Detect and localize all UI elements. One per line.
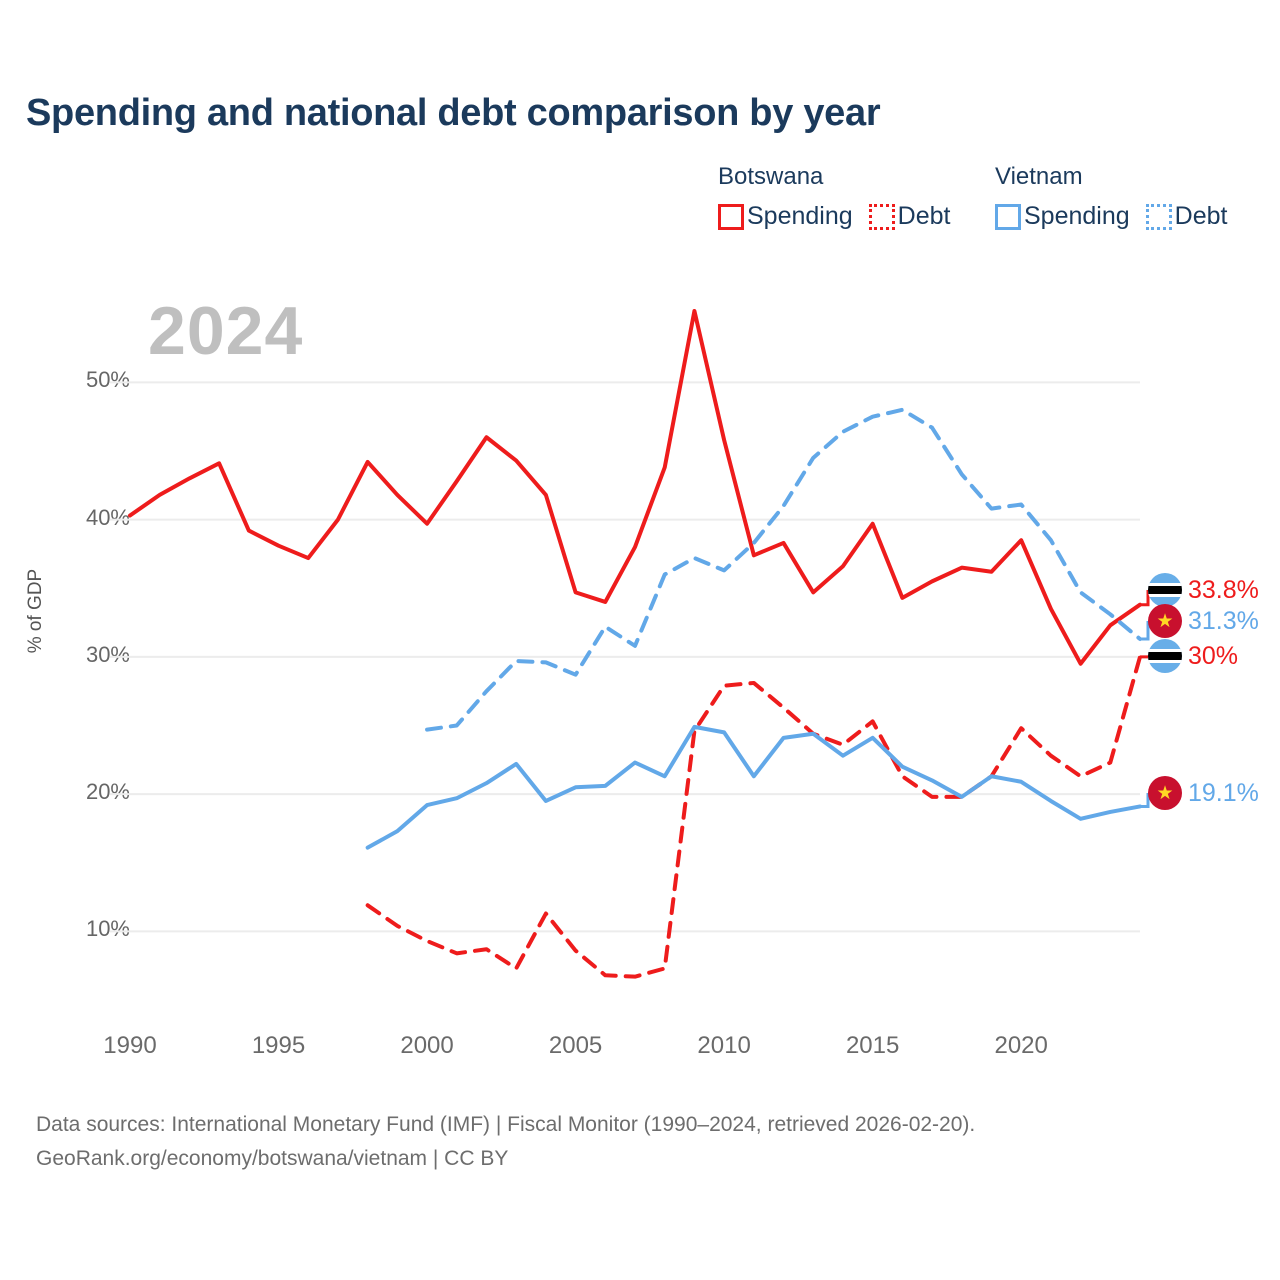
footer: Data sources: International Monetary Fun… — [36, 1108, 975, 1176]
x-tick-label: 2015 — [846, 1032, 899, 1060]
vietnam-flag-icon: ★ — [1148, 604, 1182, 638]
end-label-blue-3: ★19.1% — [1148, 776, 1259, 810]
chart-svg — [0, 0, 1280, 1100]
chart-plot-area: 2024 % of GDP 10%20%30%40%50% 1990199520… — [0, 0, 1280, 1100]
label-leader-line — [1140, 590, 1148, 605]
x-tick-label: 2000 — [400, 1032, 453, 1060]
footer-attribution: GeoRank.org/economy/botswana/vietnam | C… — [36, 1142, 975, 1176]
x-tick-label: 2010 — [697, 1032, 750, 1060]
footer-data-sources: Data sources: International Monetary Fun… — [36, 1108, 975, 1142]
end-label-value: 19.1% — [1188, 779, 1259, 808]
botswana-flag-icon — [1148, 573, 1182, 607]
end-label-red-0: 33.8% — [1148, 573, 1259, 607]
end-label-value: 30% — [1188, 642, 1238, 671]
label-leader-line — [1140, 793, 1148, 806]
series-line-botswana-debt — [368, 657, 1140, 977]
label-leader-line — [1140, 656, 1148, 657]
x-tick-label: 2020 — [994, 1032, 1047, 1060]
series-line-botswana-spending — [130, 311, 1140, 664]
label-leader-line — [1140, 621, 1148, 639]
end-label-red-2: 30% — [1148, 639, 1238, 673]
botswana-flag-icon — [1148, 639, 1182, 673]
x-tick-label: 1990 — [103, 1032, 156, 1060]
x-tick-label: 1995 — [252, 1032, 305, 1060]
end-label-value: 33.8% — [1188, 576, 1259, 605]
series-line-vietnam-spending — [368, 727, 1140, 848]
x-tick-label: 2005 — [549, 1032, 602, 1060]
end-label-value: 31.3% — [1188, 607, 1259, 636]
vietnam-flag-icon: ★ — [1148, 776, 1182, 810]
end-label-blue-1: ★31.3% — [1148, 604, 1259, 638]
